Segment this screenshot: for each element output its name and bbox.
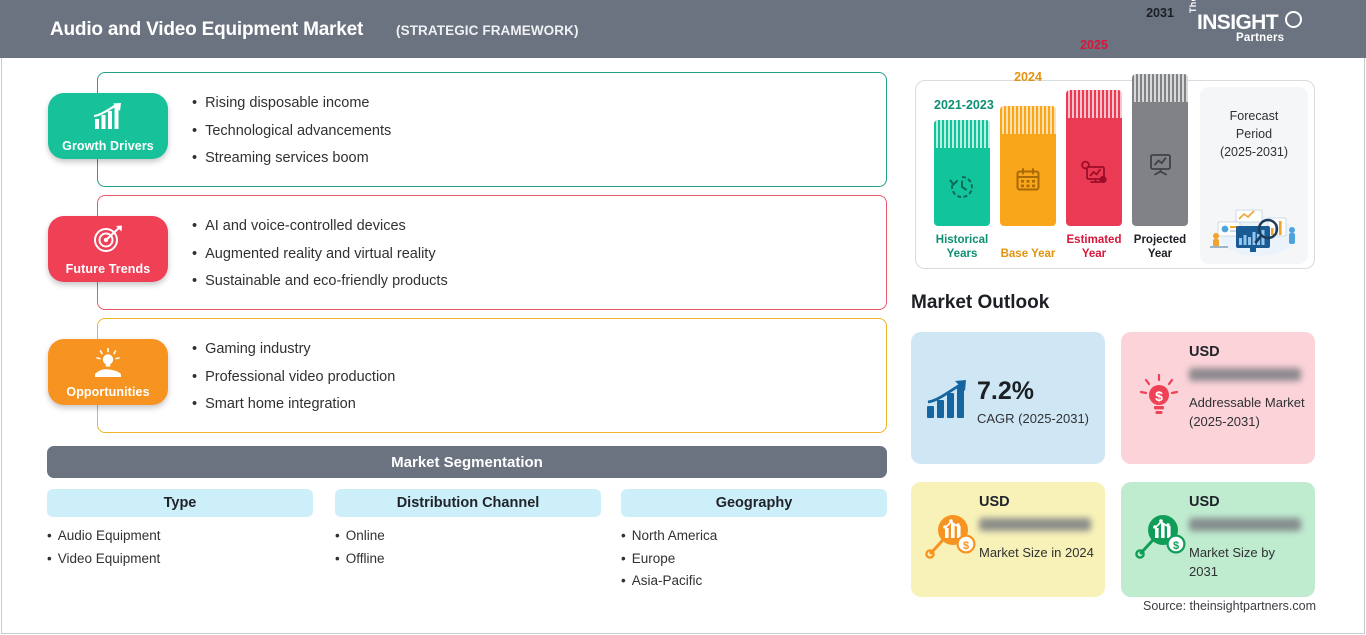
market-size-2031-description: Market Size by 2031 (1189, 544, 1304, 582)
bar-stripes (1066, 90, 1122, 118)
bar-stripes (1132, 74, 1188, 102)
segmentation-column-geography: Geography North America Europe Asia-Paci… (621, 489, 887, 597)
insight-partners-logo: The INSIGHT Partners (1188, 10, 1308, 50)
timeline-bar-historical: 2021-2023 (934, 120, 990, 226)
timeline-bar-base: 2024 (1000, 106, 1056, 226)
magnifier-chart-dollar-icon: $ (1135, 510, 1187, 560)
timeline-year-label: 2024 (1000, 70, 1056, 84)
bullet-item: Smart home integration (192, 397, 395, 412)
page-title: Audio and Video Equipment Market (50, 19, 363, 41)
list-item: Video Equipment (47, 552, 313, 566)
svg-text:$: $ (963, 540, 969, 552)
outlook-card-market-size-2031[interactable]: $ USD Market Size by 2031 (1121, 482, 1315, 597)
segmentation-header-geography: Geography (621, 489, 887, 517)
list-item: Asia-Pacific (621, 574, 887, 588)
timeline-caption-base: Base Year (995, 248, 1061, 262)
cagr-value: 7.2% (977, 377, 1034, 406)
bullet-item: Professional video production (192, 370, 395, 385)
logo-ring-icon (1285, 11, 1302, 28)
usd-label: USD (1189, 494, 1220, 510)
forecast-period-box: Forecast Period (2025-2031) (1200, 87, 1308, 264)
blurred-value (1189, 368, 1301, 381)
timeline-caption-estimated: Estimated Year (1061, 234, 1127, 262)
bullet-item: Sustainable and eco-friendly products (192, 274, 448, 289)
future-trends-badge[interactable]: Future Trends (48, 216, 168, 282)
segmentation-column-distribution-channel: Distribution Channel Online Offline (335, 489, 601, 574)
bar-stripes (934, 120, 990, 148)
timeline-bar-projected: 2031 (1132, 74, 1188, 226)
opportunities-label: Opportunities (66, 386, 149, 399)
target-arrow-icon (91, 225, 125, 258)
market-segmentation-header: Market Segmentation (47, 446, 887, 478)
future-trends-bullets: AI and voice-controlled devices Augmente… (192, 219, 448, 302)
segmentation-items-type: Audio Equipment Video Equipment (47, 529, 313, 565)
usd-label: USD (1189, 344, 1220, 360)
timeline-year-label: 2031 (1132, 6, 1188, 20)
segmentation-items-distribution-channel: Online Offline (335, 529, 601, 565)
bullet-item: Technological advancements (192, 124, 391, 139)
bullet-item: Gaming industry (192, 342, 395, 357)
segmentation-column-type: Type Audio Equipment Video Equipment (47, 489, 313, 574)
bar-chart-arrow-icon (91, 102, 125, 135)
list-item: Online (335, 529, 601, 543)
timeline-bar-estimated: 2025 (1066, 90, 1122, 226)
segmentation-items-geography: North America Europe Asia-Pacific (621, 529, 887, 588)
list-item: North America (621, 529, 887, 543)
market-size-2024-description: Market Size in 2024 (979, 544, 1094, 563)
analytics-gear-icon (1080, 159, 1108, 185)
blurred-value (979, 518, 1091, 531)
outlook-card-cagr[interactable]: 7.2% CAGR (2025-2031) (911, 332, 1105, 464)
infographic-page: Audio and Video Equipment Market (STRATE… (0, 0, 1366, 635)
market-outlook-title: Market Outlook (911, 292, 1049, 314)
bullet-item: AI and voice-controlled devices (192, 219, 448, 234)
growth-drivers-label: Growth Drivers (62, 140, 154, 153)
presentation-chart-icon (1146, 151, 1174, 177)
forecast-period-text: Forecast Period (2025-2031) (1200, 107, 1308, 161)
forecast-line-2: Period (1200, 125, 1308, 143)
opportunities-bullets: Gaming industry Professional video produ… (192, 342, 395, 425)
magnifier-chart-dollar-icon: $ (925, 510, 977, 560)
forecast-line-3: (2025-2031) (1200, 143, 1308, 161)
bullet-item: Streaming services boom (192, 151, 391, 166)
segmentation-header-distribution-channel: Distribution Channel (335, 489, 601, 517)
logo-partners: Partners (1236, 32, 1284, 44)
svg-text:$: $ (1155, 388, 1163, 404)
growth-drivers-bullets: Rising disposable income Technological a… (192, 96, 391, 179)
segmentation-header-type: Type (47, 489, 313, 517)
blurred-value (1189, 518, 1301, 531)
bar-stripes (1000, 106, 1056, 134)
forecast-line-1: Forecast (1200, 107, 1308, 125)
addressable-market-description: Addressable Market (2025-2031) (1189, 394, 1307, 432)
svg-text:$: $ (1173, 540, 1179, 552)
calendar-icon (1015, 167, 1041, 193)
cagr-description: CAGR (2025-2031) (977, 410, 1102, 429)
timeline-year-label: 2021-2023 (934, 98, 990, 112)
lightbulb-dollar-icon: $ (1137, 374, 1181, 420)
page-subtitle: (STRATEGIC FRAMEWORK) (396, 23, 579, 38)
timeline-year-label: 2025 (1066, 38, 1122, 52)
data-analysis-illustration (1206, 196, 1302, 258)
growth-drivers-badge[interactable]: Growth Drivers (48, 93, 168, 159)
timeline-caption-projected: Projected Year (1127, 234, 1193, 262)
list-item: Audio Equipment (47, 529, 313, 543)
timeline-caption-historical: Historical Years (929, 234, 995, 262)
bullet-item: Augmented reality and virtual reality (192, 247, 448, 262)
usd-label: USD (979, 494, 1010, 510)
outlook-card-addressable-market[interactable]: $ USD Addressable Market (2025-2031) (1121, 332, 1315, 464)
lightbulb-hand-icon (91, 348, 125, 383)
bullet-item: Rising disposable income (192, 96, 391, 111)
opportunities-badge[interactable]: Opportunities (48, 339, 168, 405)
outlook-card-market-size-2024[interactable]: $ USD Market Size in 2024 (911, 482, 1105, 597)
future-trends-label: Future Trends (66, 263, 151, 276)
list-item: Europe (621, 552, 887, 566)
bar-chart-arrow-icon (925, 380, 973, 420)
source-text: Source: theinsightpartners.com (1143, 599, 1316, 613)
timeline-card: 2021-2023 Historical Years 2024 (915, 80, 1315, 269)
list-item: Offline (335, 552, 601, 566)
clock-history-icon (949, 174, 975, 200)
